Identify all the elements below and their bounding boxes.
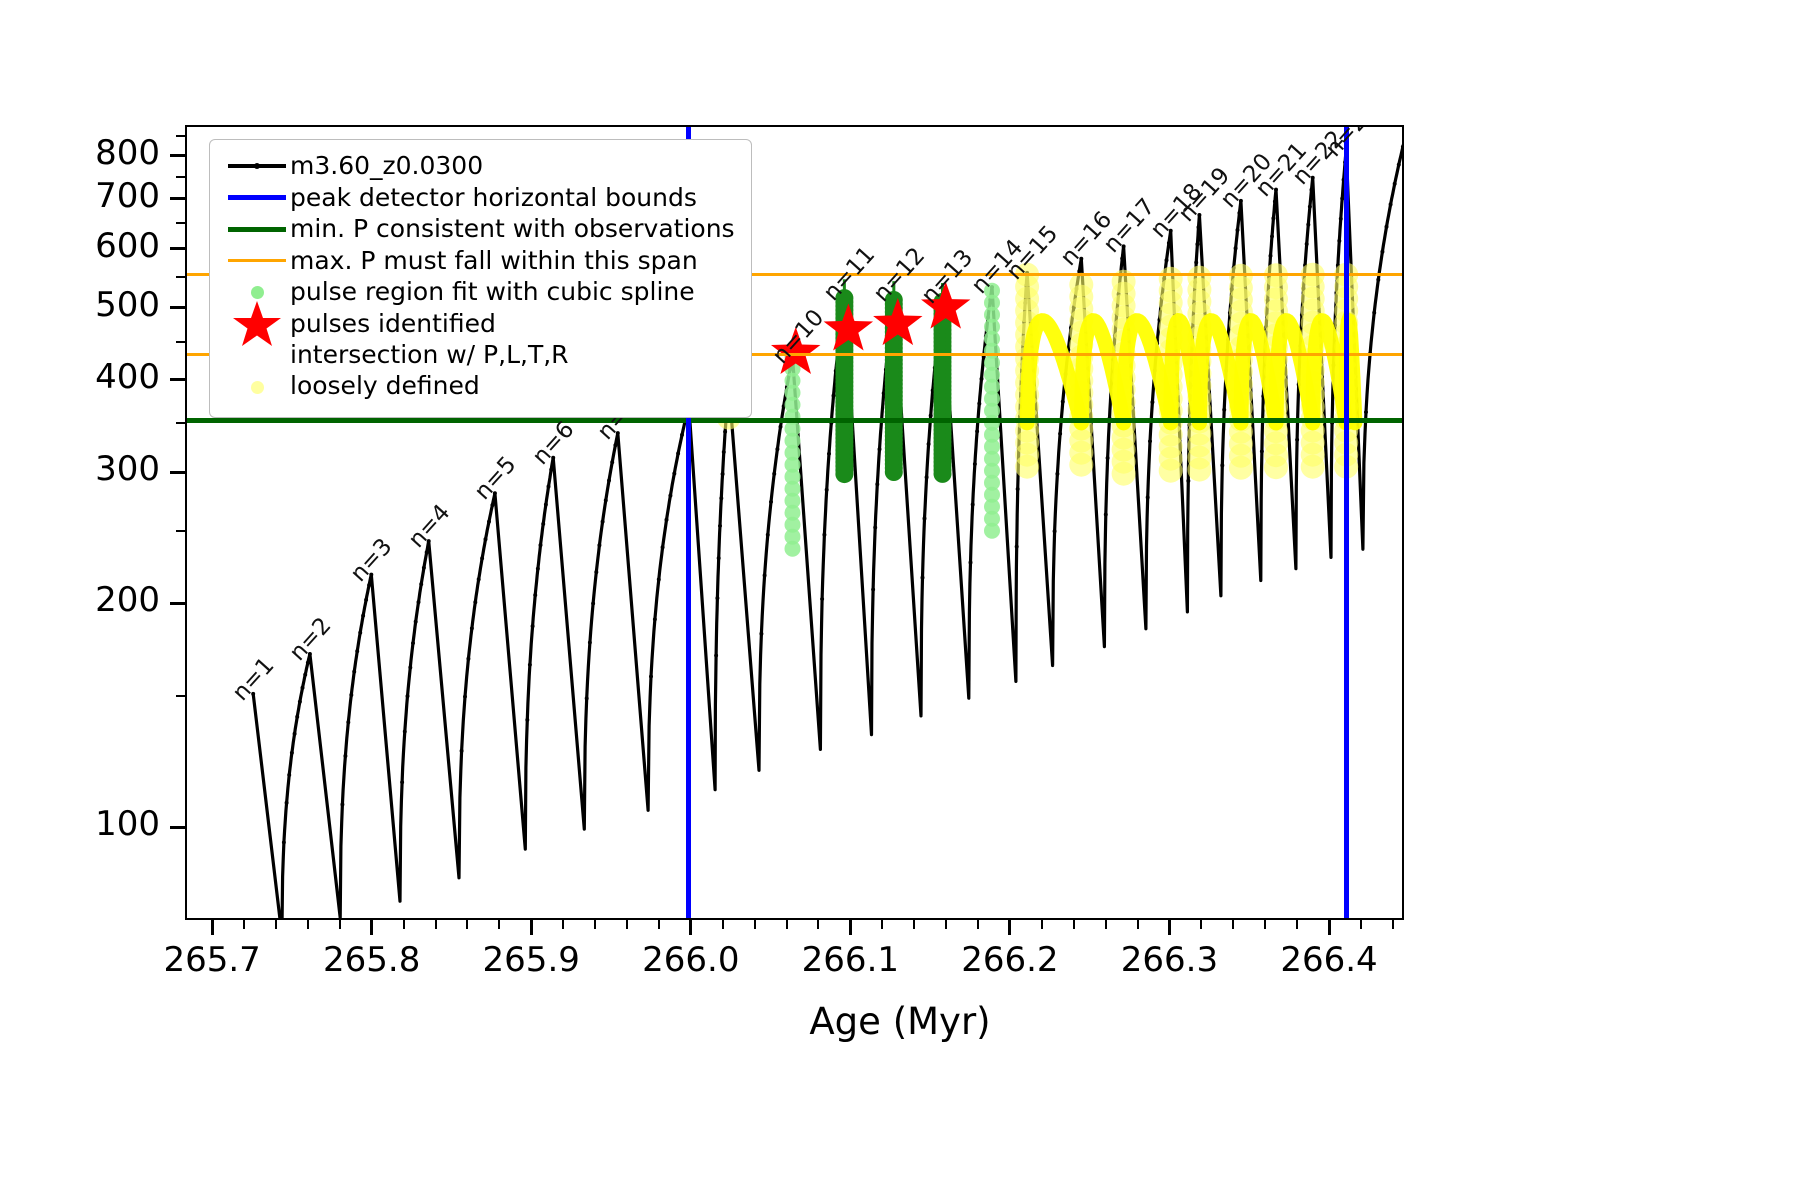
- y-tick-label: 100: [10, 804, 160, 844]
- x-tick-minor: [307, 920, 309, 929]
- legend-label-3: max. P must fall within this span: [290, 246, 698, 277]
- y-tick-minor: [176, 222, 185, 224]
- legend-label-1: peak detector horizontal bounds: [290, 183, 697, 214]
- y-tick-minor: [176, 198, 185, 200]
- legend-label-6-line1: intersection w/ P,L,T,R: [290, 340, 569, 369]
- x-tick-minor: [977, 920, 979, 929]
- legend-item-min-p: min. P consistent with observations: [224, 214, 735, 245]
- star-icon-red: [224, 309, 290, 339]
- x-tick-minor: [817, 920, 819, 929]
- legend-label-0: m3.60_z0.0300: [290, 151, 483, 182]
- x-tick: [370, 920, 373, 935]
- x-tick-minor: [658, 920, 660, 929]
- plot-area: n=1n=2n=3n=4n=5n=6n=7n=8n=9n=10n=11n=12n…: [185, 125, 1404, 920]
- peak-detector-bound: [1344, 127, 1349, 918]
- x-tick-minor: [562, 920, 564, 929]
- y-tick-minor: [176, 379, 185, 381]
- y-tick-minor: [176, 248, 185, 250]
- legend-item-intersection: intersection w/ P,L,T,R loosely defined: [224, 340, 735, 404]
- y-tick-minor: [176, 176, 185, 178]
- x-tick: [1328, 920, 1331, 935]
- x-tick-minor: [1105, 920, 1107, 929]
- legend-item-peak-bounds: peak detector horizontal bounds: [224, 183, 735, 214]
- x-tick-minor: [435, 920, 437, 929]
- legend-item-max-p: max. P must fall within this span: [224, 246, 735, 277]
- x-tick-minor: [1360, 920, 1362, 929]
- x-tick-minor: [275, 920, 277, 929]
- x-tick-minor: [1073, 920, 1075, 929]
- y-tick-minor: [176, 422, 185, 424]
- x-tick: [211, 920, 214, 935]
- x-tick-minor: [498, 920, 500, 929]
- legend-label-6-line2: loosely defined: [290, 371, 480, 400]
- legend-label-5: pulses identified: [290, 309, 496, 340]
- x-tick-minor: [403, 920, 405, 929]
- line-icon-orange: [224, 246, 290, 276]
- x-tick: [530, 920, 533, 935]
- x-tick-minor: [1232, 920, 1234, 929]
- line-icon-blue: [224, 183, 290, 213]
- y-tick-minor: [176, 341, 185, 343]
- y-tick-minor: [176, 471, 185, 473]
- x-tick-minor: [786, 920, 788, 929]
- legend-label-4: pulse region fit with cubic spline: [290, 277, 695, 308]
- y-tick-label: 700: [10, 176, 160, 216]
- min-p-line: [187, 418, 1402, 423]
- y-tick-minor: [176, 155, 185, 157]
- x-tick-minor: [913, 920, 915, 929]
- y-tick-label: 200: [10, 580, 160, 620]
- x-tick-minor: [1296, 920, 1298, 929]
- y-tick-label: 400: [10, 357, 160, 397]
- y-tick-minor: [176, 826, 185, 828]
- figure-root: FM period (days) Age (Myr) 1002003004005…: [0, 0, 1800, 1200]
- x-tick-minor: [881, 920, 883, 929]
- y-tick-label: 500: [10, 285, 160, 325]
- y-tick-minor: [176, 602, 185, 604]
- line-icon-green: [224, 214, 290, 244]
- x-tick: [1008, 920, 1011, 935]
- y-tick-label: 300: [10, 449, 160, 489]
- x-tick-minor: [945, 920, 947, 929]
- legend-item-series: m3.60_z0.0300: [224, 151, 735, 182]
- legend-label-2: min. P consistent with observations: [290, 214, 735, 245]
- legend-item-pulses: pulses identified: [224, 309, 735, 340]
- x-tick-minor: [626, 920, 628, 929]
- x-tick-minor: [722, 920, 724, 929]
- dot-icon-paleyellow: [224, 340, 290, 404]
- x-tick: [689, 920, 692, 935]
- x-tick-label: 266.4: [1229, 940, 1429, 980]
- legend: m3.60_z0.0300 peak detector horizontal b…: [209, 139, 752, 418]
- y-tick-minor: [176, 695, 185, 697]
- x-tick-minor: [466, 920, 468, 929]
- x-tick-minor: [1041, 920, 1043, 929]
- x-tick-minor: [754, 920, 756, 929]
- y-tick-minor: [176, 307, 185, 309]
- y-tick-minor: [176, 135, 185, 137]
- x-tick-minor: [1137, 920, 1139, 929]
- y-tick-label: 600: [10, 226, 160, 266]
- x-tick-minor: [243, 920, 245, 929]
- line-marker-icon: [224, 151, 290, 181]
- y-tick-minor: [176, 530, 185, 532]
- y-tick-label: 800: [10, 133, 160, 173]
- x-axis-label: Age (Myr): [0, 1000, 1800, 1043]
- x-tick: [1168, 920, 1171, 935]
- x-tick-minor: [1200, 920, 1202, 929]
- x-tick-minor: [1392, 920, 1394, 929]
- y-tick-minor: [176, 276, 185, 278]
- x-tick-minor: [339, 920, 341, 929]
- x-tick: [849, 920, 852, 935]
- x-tick-minor: [1264, 920, 1266, 929]
- x-tick-minor: [594, 920, 596, 929]
- legend-item-spline: pulse region fit with cubic spline: [224, 277, 735, 308]
